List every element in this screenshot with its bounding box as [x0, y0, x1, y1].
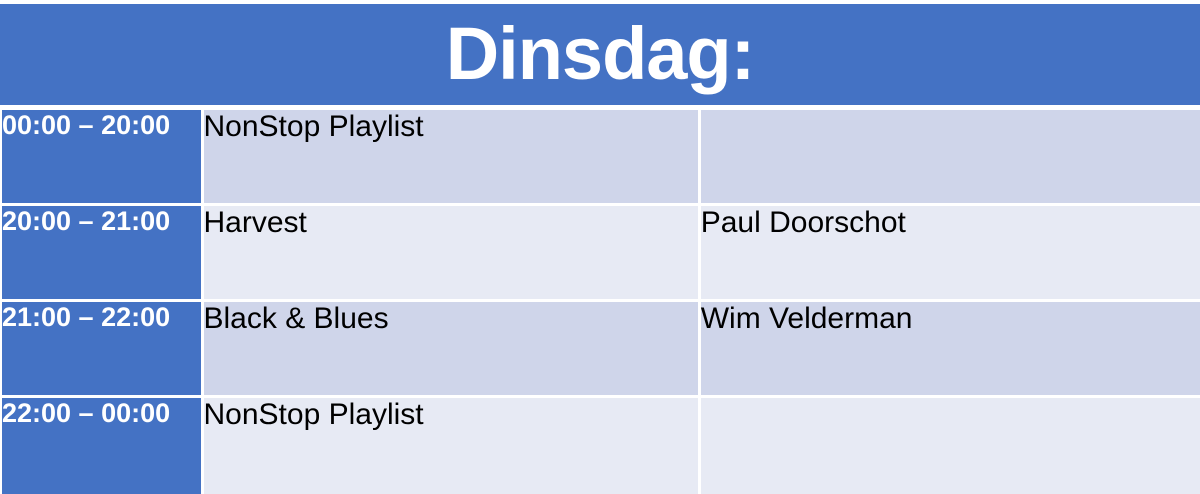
table-row: 22:00 – 00:00 NonStop Playlist [2, 398, 1200, 494]
schedule-host-cell: Paul Doorschot [701, 206, 1200, 302]
title-banner: Dinsdag: [0, 4, 1200, 105]
schedule-time-cell: 22:00 – 00:00 [2, 398, 204, 494]
page-title: Dinsdag: [446, 17, 755, 91]
schedule-program-cell: Black & Blues [204, 302, 701, 398]
schedule-time-cell: 21:00 – 22:00 [2, 302, 204, 398]
schedule-time-cell: 20:00 – 21:00 [2, 206, 204, 302]
schedule-time-cell: 00:00 – 20:00 [2, 110, 204, 206]
schedule-program-cell: NonStop Playlist [204, 398, 701, 494]
table-row: 00:00 – 20:00 NonStop Playlist [2, 110, 1200, 206]
schedule-host-cell [701, 110, 1200, 206]
schedule-program-cell: Harvest [204, 206, 701, 302]
schedule-host-cell: Wim Velderman [701, 302, 1200, 398]
schedule-program-cell: NonStop Playlist [204, 110, 701, 206]
table-row: 20:00 – 21:00 Harvest Paul Doorschot [2, 206, 1200, 302]
schedule-host-cell [701, 398, 1200, 494]
slide-canvas: Dinsdag: 00:00 – 20:00 NonStop Playlist … [0, 0, 1200, 494]
table-row: 21:00 – 22:00 Black & Blues Wim Velderma… [2, 302, 1200, 398]
schedule-table: 00:00 – 20:00 NonStop Playlist 20:00 – 2… [2, 110, 1200, 494]
